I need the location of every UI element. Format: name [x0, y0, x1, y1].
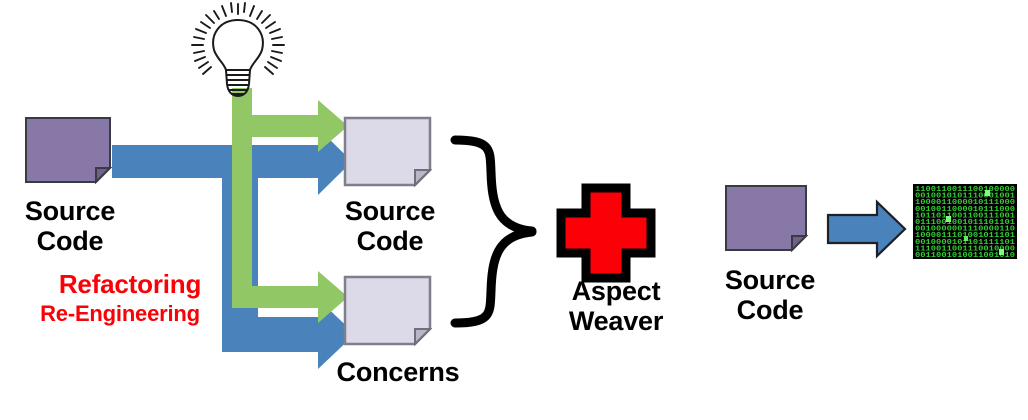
- woven-source-code-label-line1: Source: [725, 265, 815, 295]
- refactoring-label-line1: Refactoring: [59, 269, 201, 299]
- refactoring-label: Refactoring: [30, 270, 230, 299]
- aspect-weaver-label: AspectWeaver: [536, 276, 696, 336]
- woven-source-code-label: SourceCode: [700, 265, 840, 325]
- diagram-canvas: 1100110011100100000001001010111000100110…: [0, 0, 1028, 420]
- re-engineering-label: Re-Engineering: [10, 302, 230, 327]
- source-code-input-label-line1: Source: [25, 196, 115, 226]
- source-code-output-label-line2: Code: [357, 226, 424, 256]
- aspect-weaver-label-line1: Aspect: [572, 276, 661, 306]
- source-code-output-label-line1: Source: [345, 196, 435, 226]
- source-code-input-label: SourceCode: [0, 196, 140, 256]
- concerns-label: Concerns: [318, 357, 478, 387]
- re-engineering-label-line2: Re-Engineering: [40, 301, 200, 326]
- woven-source-code-label-line2: Code: [737, 295, 804, 325]
- concerns-label-line1: Concerns: [337, 357, 460, 387]
- binary-output-image: 1100110011100100000001001010111000100110…: [0, 0, 1028, 420]
- source-code-input-label-line2: Code: [37, 226, 104, 256]
- aspect-weaver-label-line2: Weaver: [569, 306, 663, 336]
- source-code-output-label: SourceCode: [320, 196, 460, 256]
